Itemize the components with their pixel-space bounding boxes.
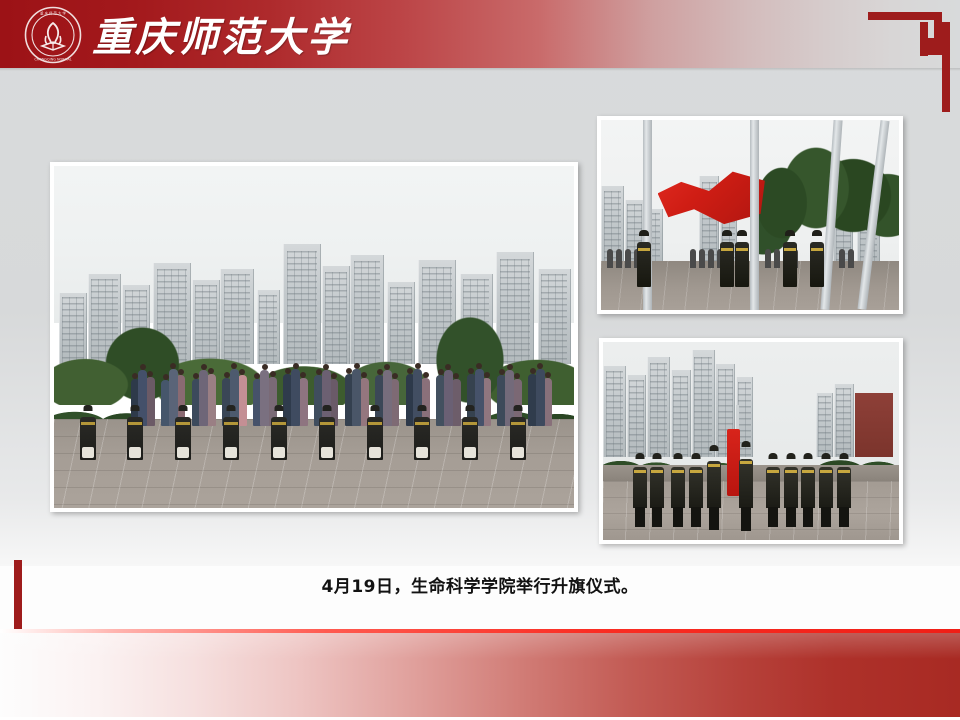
presentation-slide: 重 庆 师 范 大 学 CHONGQING NORMAL 重庆师范大学 (0, 0, 960, 720)
slide-caption: 4月19日，生命科学学院举行升旗仪式。 (0, 572, 960, 597)
svg-text:CHONGQING NORMAL: CHONGQING NORMAL (34, 57, 71, 61)
footer-band (0, 633, 960, 717)
header-shadow (0, 68, 960, 71)
group-photo-image (54, 166, 574, 508)
honor-guard-march-photo-image (603, 342, 899, 540)
honor-guard-row (75, 405, 553, 460)
university-seal-icon: 重 庆 师 范 大 学 CHONGQING NORMAL (24, 6, 82, 64)
honor-guard-march-photo[interactable] (599, 338, 903, 544)
svg-text:重 庆 师 范 大 学: 重 庆 师 范 大 学 (40, 11, 66, 16)
group-photo[interactable] (50, 162, 578, 512)
university-name-title: 重庆师范大学 (92, 8, 350, 60)
flag-raising-photo-image (601, 120, 899, 310)
corner-ornament-top-right-icon (852, 0, 960, 112)
flag-raising-photo[interactable] (597, 116, 903, 314)
